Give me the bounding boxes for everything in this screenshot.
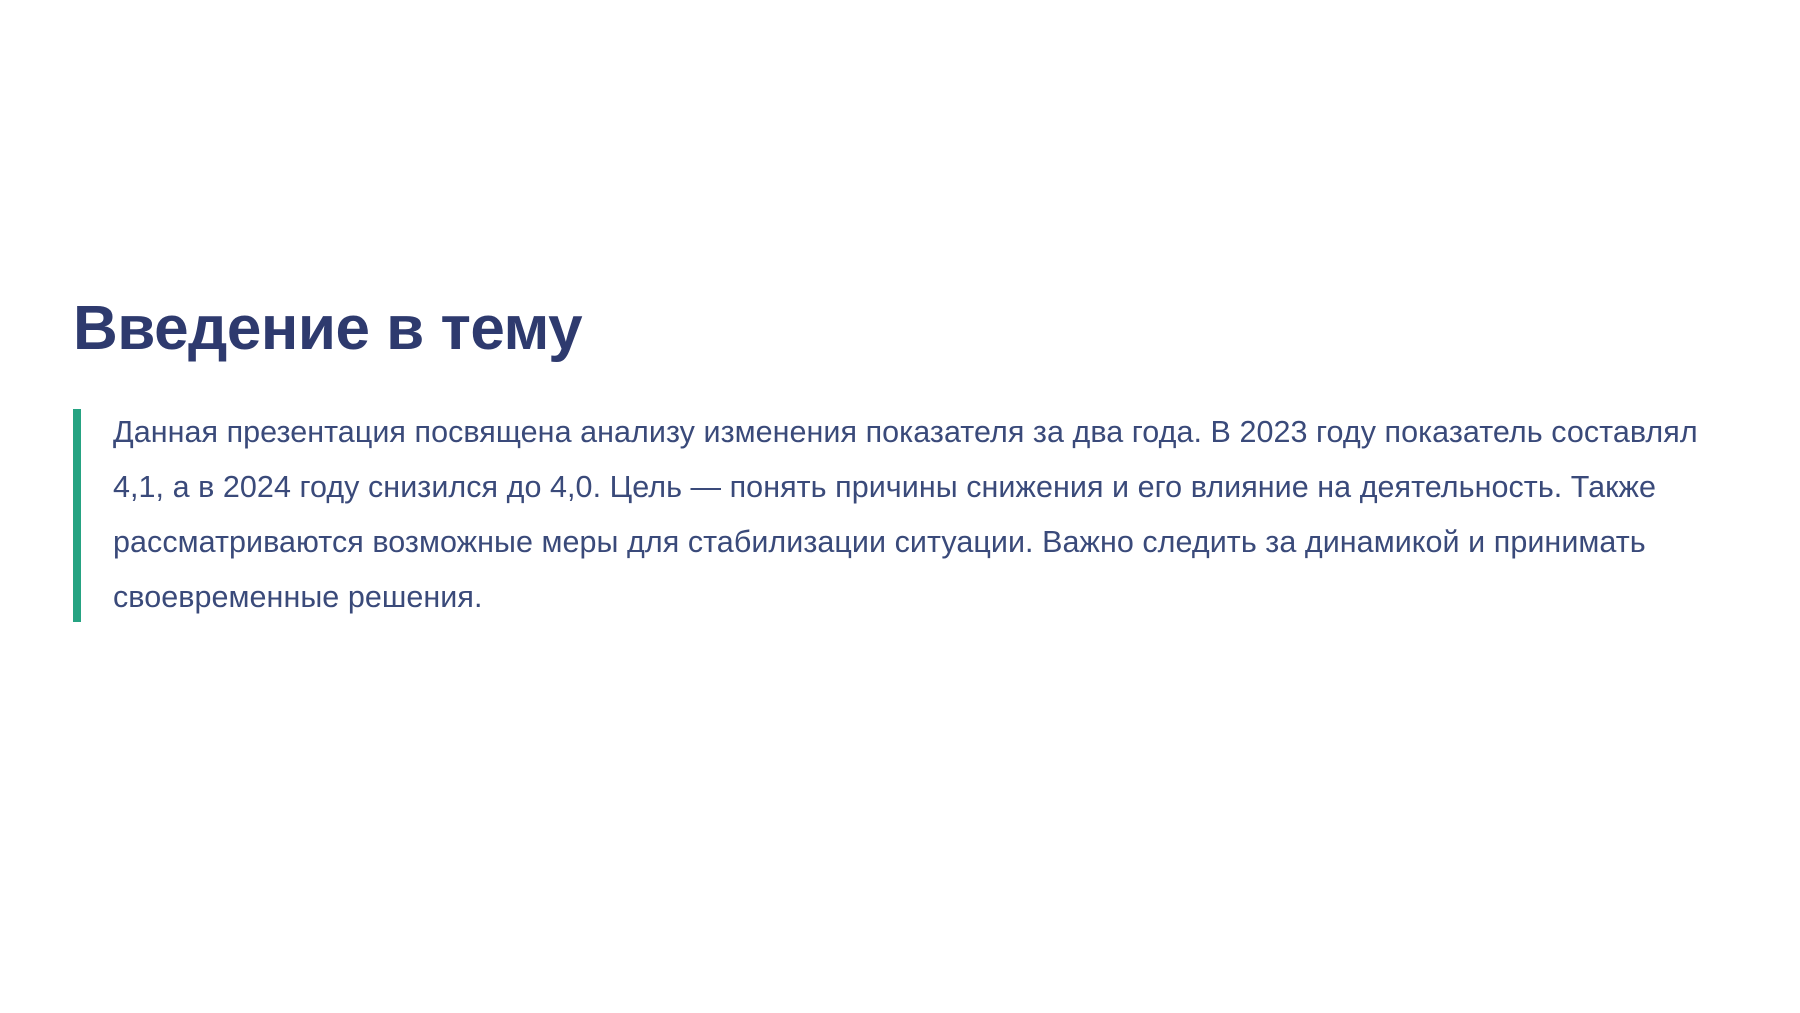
- slide-content: Введение в тему Данная презентация посвя…: [73, 296, 1733, 625]
- accent-bar: [73, 409, 81, 622]
- slide-root: Введение в тему Данная презентация посвя…: [0, 0, 1800, 1013]
- page-title: Введение в тему: [73, 296, 1733, 363]
- body-block: Данная презентация посвящена анализу изм…: [73, 405, 1728, 625]
- body-paragraph: Данная презентация посвящена анализу изм…: [113, 405, 1728, 625]
